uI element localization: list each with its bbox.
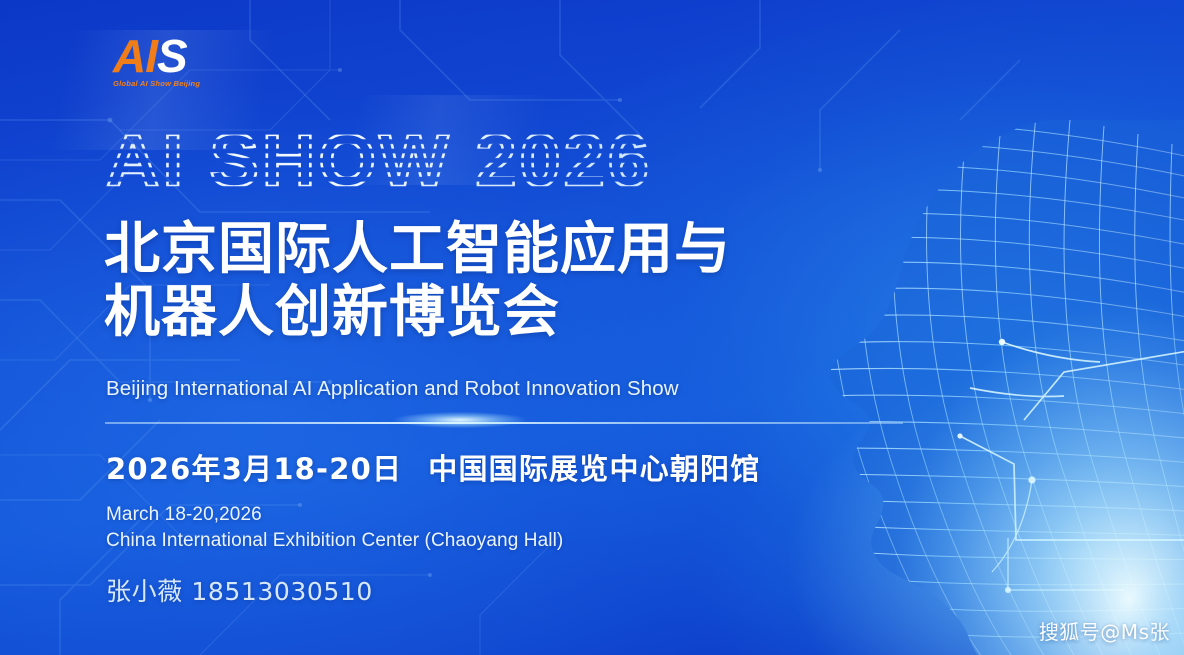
page-title-line-2: 机器人创新博览会 (104, 281, 731, 344)
event-venue-cn: 中国国际展览中心朝阳馆 (428, 452, 760, 486)
ais-logo-tagline: Global AI Show Beijing (113, 79, 225, 88)
page-title-line-1: 北京国际人工智能应用与 (104, 217, 731, 282)
headline-text: AI SHOW 2026 (106, 124, 652, 200)
page-subtitle: Beijing International AI Application and… (106, 377, 679, 401)
contact-info: 张小薇 18513030510 (106, 572, 373, 608)
headline-ai-show-2026: AI SHOW 2026 (106, 124, 766, 200)
wireframe-face-profile-decor (764, 120, 1184, 655)
page-title: 北京国际人工智能应用与 机器人创新博览会 (104, 218, 731, 344)
ais-logo-mark: AIS (113, 34, 225, 78)
ais-logo-ai-text: AI (113, 30, 157, 82)
event-dateline-en: March 18-20,2026 China International Exh… (106, 502, 563, 554)
event-dateline-cn: 2026年3月18-20日中国国际展览中心朝阳馆 (106, 446, 760, 488)
event-date-cn: 2026年3月18-20日 (106, 452, 402, 486)
event-venue-en: China International Exhibition Center (C… (106, 528, 563, 554)
divider (105, 418, 903, 427)
divider-glow-icon (370, 409, 550, 431)
ais-logo-s-text: S (157, 30, 187, 82)
sohu-watermark: 搜狐号@Ms张 (1039, 616, 1170, 645)
event-date-en: March 18-20,2026 (106, 502, 563, 528)
ais-logo: AIS Global AI Show Beijing (113, 34, 225, 96)
ai-show-poster: AIS Global AI Show Beijing AI SHOW 2026 … (0, 0, 1184, 655)
